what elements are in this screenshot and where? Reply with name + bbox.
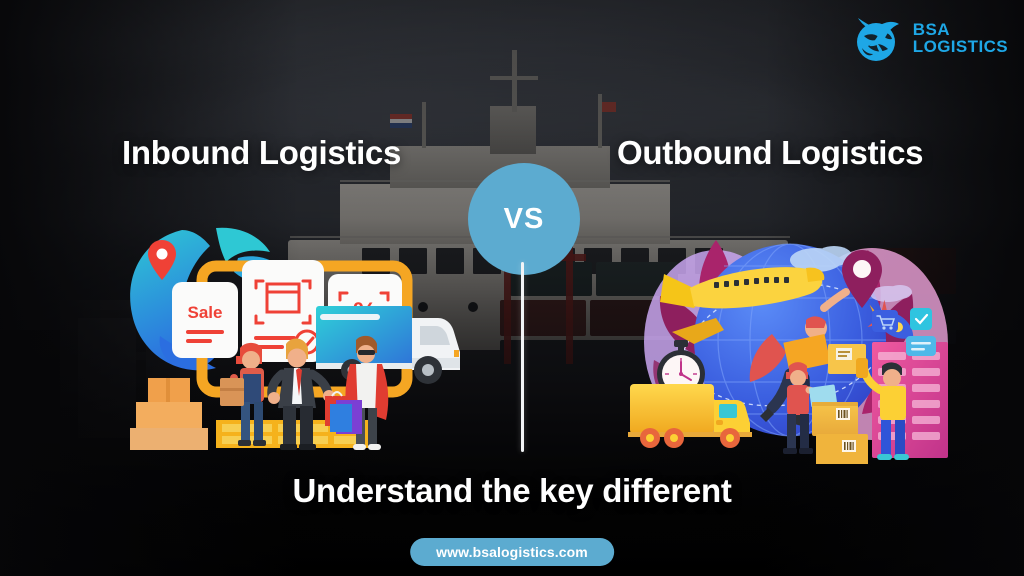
card-sale: Sale: [172, 282, 238, 358]
stacked-boxes: [130, 378, 208, 450]
vertical-divider: [521, 262, 524, 452]
brand-name-line2: LOGISTICS: [913, 38, 1008, 55]
brand-logo[interactable]: BSA LOGISTICS: [852, 12, 1008, 64]
kangaroo-globe-icon: [852, 12, 904, 64]
vs-badge: VS: [468, 163, 580, 275]
card-sale-label: Sale: [188, 303, 223, 322]
foreground-content: Sale: [0, 0, 1024, 576]
brand-name-line1: BSA: [913, 21, 1008, 38]
website-url-pill[interactable]: www.bsalogistics.com: [410, 538, 614, 566]
brand-name: BSA LOGISTICS: [913, 21, 1008, 55]
chat-bubble-icon: [906, 336, 936, 356]
outbound-title: Outbound Logistics: [617, 134, 923, 172]
inbound-title: Inbound Logistics: [122, 134, 401, 172]
outbound-logistics-illustration: [620, 232, 960, 464]
delivery-truck-icon: [316, 306, 460, 384]
page-subtitle: Understand the key different: [0, 472, 1024, 510]
poster-canvas: Sale: [0, 0, 1024, 576]
checkbox-icon: [910, 308, 932, 330]
inbound-logistics-illustration: Sale: [120, 218, 485, 468]
shopping-cart-icon: [872, 310, 898, 332]
